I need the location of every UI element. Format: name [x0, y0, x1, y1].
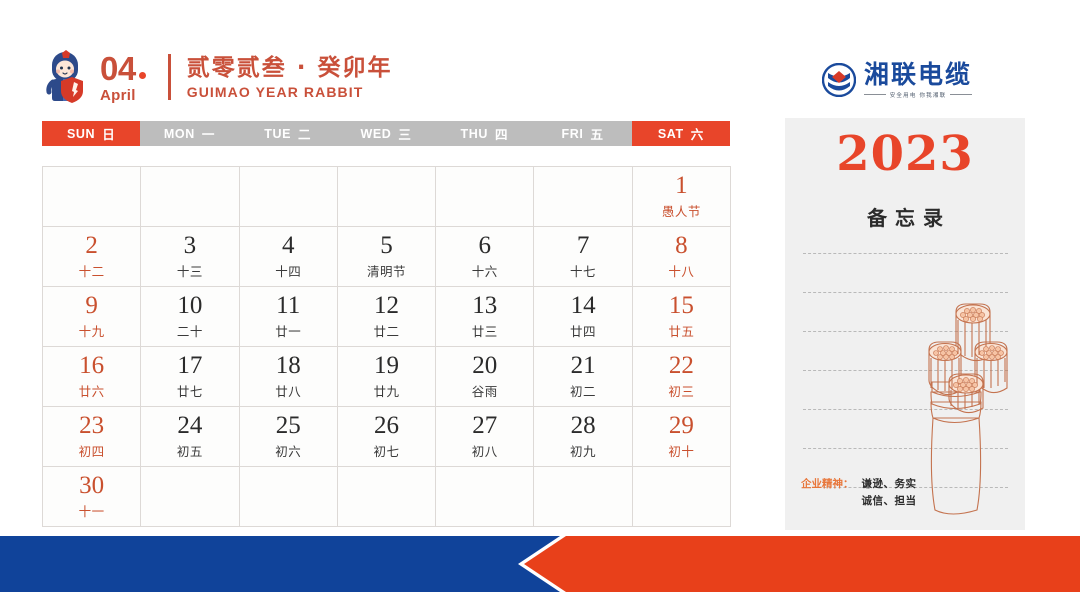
weekday-cn-label: 一	[202, 124, 215, 143]
day-cell-empty	[141, 167, 239, 227]
day-cell[interactable]: 21初二	[534, 347, 632, 407]
day-cell-empty	[633, 467, 731, 527]
day-number: 11	[276, 293, 300, 319]
day-cell[interactable]: 28初九	[534, 407, 632, 467]
day-number: 26	[374, 413, 399, 439]
day-number: 29	[669, 413, 694, 439]
weekday-cn-label: 四	[495, 124, 508, 143]
weekday-cn-label: 日	[102, 124, 115, 143]
day-cell[interactable]: 16廿六	[43, 347, 141, 407]
day-number: 2	[85, 233, 98, 259]
day-cell[interactable]: 24初五	[141, 407, 239, 467]
day-cell[interactable]: 12廿二	[338, 287, 436, 347]
banner-left-shape	[0, 536, 560, 592]
day-number: 30	[79, 473, 104, 499]
day-lunar-label: 廿四	[570, 321, 596, 340]
month-name: April	[100, 88, 146, 103]
memo-line[interactable]	[803, 253, 1008, 255]
day-cell[interactable]: 25初六	[240, 407, 338, 467]
day-number: 22	[669, 353, 694, 379]
day-lunar-label: 初三	[668, 381, 694, 400]
day-cell[interactable]: 18廿八	[240, 347, 338, 407]
day-cell[interactable]: 22初三	[633, 347, 731, 407]
logo-company-name: 湘联电缆	[864, 62, 972, 87]
day-lunar-label: 廿七	[177, 381, 203, 400]
logo-tagline: 安全用电 你我湘联	[890, 91, 947, 99]
corporate-spirit-label: 企业精神：	[801, 476, 854, 493]
weekday-en-label: THU	[460, 127, 488, 141]
weekday-en-label: TUE	[264, 127, 291, 141]
day-cell[interactable]: 5清明节	[338, 227, 436, 287]
day-number: 1	[675, 173, 688, 199]
weekday-header-tue: TUE二	[239, 121, 337, 146]
day-cell[interactable]: 7十七	[534, 227, 632, 287]
day-number: 28	[571, 413, 596, 439]
day-lunar-label: 十三	[177, 261, 203, 280]
memo-line[interactable]	[803, 292, 1008, 294]
day-lunar-label: 十六	[472, 261, 498, 280]
day-lunar-label: 初七	[373, 441, 399, 460]
day-lunar-label: 初九	[570, 441, 596, 460]
month-number: 04	[100, 52, 136, 85]
day-cell-empty	[534, 167, 632, 227]
day-cell[interactable]: 8十八	[633, 227, 731, 287]
day-cell-empty	[240, 467, 338, 527]
day-cell-empty	[534, 467, 632, 527]
day-lunar-label: 廿五	[668, 321, 694, 340]
mascot-shield-character-icon	[42, 49, 90, 105]
day-cell[interactable]: 27初八	[436, 407, 534, 467]
day-number: 6	[479, 233, 492, 259]
day-number: 3	[184, 233, 197, 259]
day-number: 15	[669, 293, 694, 319]
weekday-header-sat: SAT六	[632, 121, 730, 146]
day-cell-empty	[436, 467, 534, 527]
day-lunar-label: 初六	[275, 441, 301, 460]
calendar-grid: 1愚人节2十二3十三4十四5清明节6十六7十七8十八9十九10二十11廿一12廿…	[42, 166, 731, 527]
day-cell[interactable]: 1愚人节	[633, 167, 731, 227]
day-lunar-label: 十四	[275, 261, 301, 280]
day-lunar-label: 廿二	[373, 321, 399, 340]
day-number: 13	[472, 293, 497, 319]
banner-right-shape	[524, 536, 1080, 592]
weekday-cn-label: 六	[691, 124, 704, 143]
day-number: 5	[380, 233, 393, 259]
day-lunar-label: 廿九	[373, 381, 399, 400]
day-number: 12	[374, 293, 399, 319]
day-number: 7	[577, 233, 590, 259]
weekday-header-thu: THU四	[435, 121, 533, 146]
day-cell[interactable]: 11廿一	[240, 287, 338, 347]
weekday-en-label: FRI	[562, 127, 584, 141]
weekday-en-label: WED	[360, 127, 391, 141]
logo-text-block: 湘联电缆 安全用电 你我湘联	[864, 62, 972, 99]
day-cell[interactable]: 4十四	[240, 227, 338, 287]
day-lunar-label: 初四	[79, 441, 105, 460]
day-cell[interactable]: 13廿三	[436, 287, 534, 347]
day-lunar-label: 初八	[472, 441, 498, 460]
day-lunar-label: 十七	[570, 261, 596, 280]
day-cell-empty	[338, 167, 436, 227]
weekday-header-sun: SUN日	[42, 121, 140, 146]
day-cell[interactable]: 30十一	[43, 467, 141, 527]
weekday-en-label: MON	[164, 127, 195, 141]
day-lunar-label: 廿六	[79, 381, 105, 400]
day-lunar-label: 初二	[570, 381, 596, 400]
weekday-cn-label: 三	[398, 124, 411, 143]
day-lunar-label: 二十	[177, 321, 203, 340]
day-number: 8	[675, 233, 688, 259]
day-number: 23	[79, 413, 104, 439]
day-lunar-label: 廿一	[275, 321, 301, 340]
weekday-header-mon: MON一	[140, 121, 238, 146]
weekday-header-fri: FRI五	[533, 121, 631, 146]
day-lunar-label: 谷雨	[472, 381, 498, 400]
logo-tagline-row: 安全用电 你我湘联	[864, 91, 972, 99]
year-chinese-label: 贰零贰叁 · 癸卯年	[187, 54, 393, 83]
day-number: 4	[282, 233, 295, 259]
day-lunar-label: 清明节	[367, 261, 406, 280]
shield-diamond-logo-icon	[822, 63, 856, 97]
month-block: 04 April	[100, 52, 146, 103]
month-number-row: 04	[100, 52, 146, 85]
day-cell[interactable]: 17廿七	[141, 347, 239, 407]
bottom-banner	[0, 536, 1080, 592]
day-number: 19	[374, 353, 399, 379]
day-number: 21	[571, 353, 596, 379]
day-lunar-label: 廿三	[472, 321, 498, 340]
day-number: 9	[85, 293, 98, 319]
weekday-header-row: SUN日MON一TUE二WED三THU四FRI五SAT六	[42, 121, 730, 146]
day-number: 14	[571, 293, 596, 319]
day-number: 25	[276, 413, 301, 439]
day-lunar-label: 十二	[79, 261, 105, 280]
day-cell[interactable]: 19廿九	[338, 347, 436, 407]
month-dot-icon	[139, 72, 146, 79]
day-number: 16	[79, 353, 104, 379]
day-cell-empty	[43, 167, 141, 227]
day-cell[interactable]: 23初四	[43, 407, 141, 467]
day-lunar-label: 十九	[79, 321, 105, 340]
corporate-spirit-row: 企业精神： 谦逊、务实 诚信、担当	[801, 476, 976, 511]
day-cell[interactable]: 2十二	[43, 227, 141, 287]
weekday-header-wed: WED三	[337, 121, 435, 146]
day-lunar-label: 十一	[79, 501, 105, 520]
day-cell-empty	[436, 167, 534, 227]
day-cell[interactable]: 15廿五	[633, 287, 731, 347]
day-number: 10	[177, 293, 202, 319]
day-cell-empty	[338, 467, 436, 527]
weekday-en-label: SAT	[658, 127, 684, 141]
day-cell[interactable]: 6十六	[436, 227, 534, 287]
header-divider	[168, 54, 171, 100]
day-number: 24	[177, 413, 202, 439]
day-number: 27	[472, 413, 497, 439]
day-lunar-label: 愚人节	[662, 201, 701, 220]
tagline-rule-right	[950, 94, 972, 95]
corporate-spirit-values: 谦逊、务实 诚信、担当	[862, 476, 917, 511]
tagline-rule-left	[864, 94, 886, 95]
day-cell[interactable]: 29初十	[633, 407, 731, 467]
day-cell-empty	[141, 467, 239, 527]
weekday-cn-label: 二	[298, 124, 311, 143]
year-block: 贰零贰叁 · 癸卯年 GUIMAO YEAR RABBIT	[187, 54, 393, 101]
weekday-cn-label: 五	[590, 124, 603, 143]
calendar-header: 04 April 贰零贰叁 · 癸卯年 GUIMAO YEAR RABBIT	[42, 44, 392, 110]
day-number: 20	[472, 353, 497, 379]
year-english-label: GUIMAO YEAR RABBIT	[187, 84, 393, 100]
company-logo: 湘联电缆 安全用电 你我湘联	[822, 56, 1002, 104]
day-lunar-label: 十八	[668, 261, 694, 280]
day-lunar-label: 初五	[177, 441, 203, 460]
day-number: 17	[177, 353, 202, 379]
memo-panel: 2023 备忘录	[785, 118, 1025, 530]
day-cell[interactable]: 20谷雨	[436, 347, 534, 407]
weekday-en-label: SUN	[67, 127, 95, 141]
memo-year-artwork: 2023	[785, 130, 1025, 178]
day-cell[interactable]: 10二十	[141, 287, 239, 347]
day-cell-empty	[240, 167, 338, 227]
day-cell[interactable]: 14廿四	[534, 287, 632, 347]
corporate-spirit-block: 企业精神： 谦逊、务实 诚信、担当	[801, 476, 976, 511]
day-cell[interactable]: 9十九	[43, 287, 141, 347]
corporate-spirit-line: 诚信、担当	[862, 493, 917, 510]
corporate-spirit-line: 谦逊、务实	[862, 476, 917, 493]
day-lunar-label: 廿八	[275, 381, 301, 400]
day-cell[interactable]: 26初七	[338, 407, 436, 467]
day-lunar-label: 初十	[668, 441, 694, 460]
day-cell[interactable]: 3十三	[141, 227, 239, 287]
day-number: 18	[276, 353, 301, 379]
memo-title: 备忘录	[785, 202, 1025, 231]
